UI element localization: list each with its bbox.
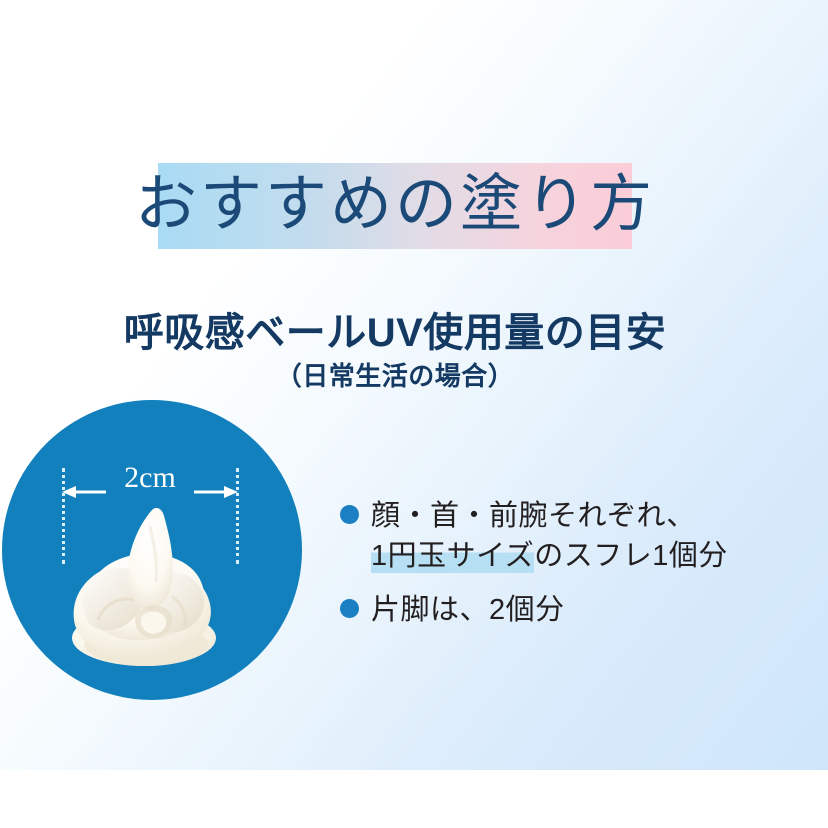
bullet-dot-icon bbox=[340, 505, 359, 524]
background-footer-band bbox=[0, 770, 828, 828]
page-title: おすすめの塗り方 bbox=[158, 155, 632, 255]
bullet-dot-icon bbox=[340, 599, 359, 618]
usage-line: 1円玉サイズのスフレ1個分 bbox=[371, 536, 760, 576]
usage-list: 顔・首・前腕それぞれ、 1円玉サイズのスフレ1個分 片脚は、2個分 bbox=[340, 496, 760, 644]
subtitle-note: （日常生活の場合） bbox=[0, 356, 790, 393]
list-item: 片脚は、2個分 bbox=[340, 590, 760, 630]
subtitle-heading: 呼吸感ベールUV使用量の目安 bbox=[0, 300, 790, 358]
usage-line: 片脚は、2個分 bbox=[371, 590, 760, 630]
list-item: 顔・首・前腕それぞれ、 1円玉サイズのスフレ1個分 bbox=[340, 496, 760, 576]
dimension-label: 2cm bbox=[60, 464, 240, 492]
cream-swirl-icon bbox=[54, 492, 238, 670]
list-item-text: 片脚は、2個分 bbox=[371, 590, 760, 630]
list-item-text: 顔・首・前腕それぞれ、 1円玉サイズのスフレ1個分 bbox=[371, 496, 760, 576]
usage-line: 顔・首・前腕それぞれ、 bbox=[371, 496, 760, 536]
highlighted-phrase: 1円玉サイズ bbox=[371, 540, 534, 573]
product-amount-illustration: 2cm bbox=[2, 400, 302, 700]
promo-poster: おすすめの塗り方 呼吸感ベールUV使用量の目安 （日常生活の場合） bbox=[0, 0, 828, 828]
usage-line-rest: のスフレ1個分 bbox=[534, 540, 728, 572]
